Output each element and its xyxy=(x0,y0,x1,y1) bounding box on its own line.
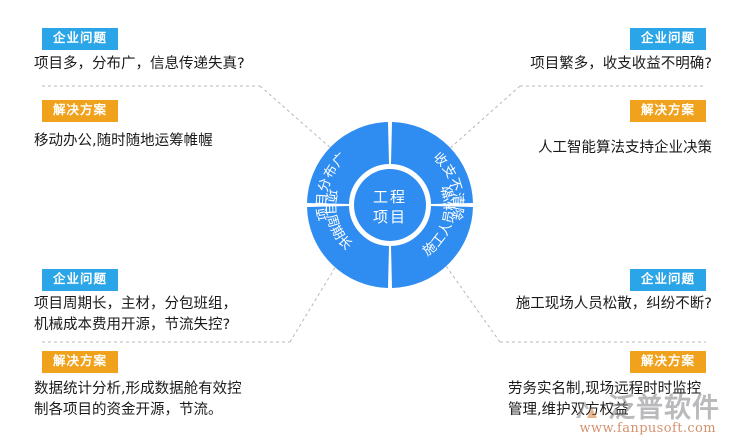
solution-badge-bottom-left: 解决方案 xyxy=(42,351,118,373)
solution-text-top-left: 移动办公,随时随地运筹帷幄 xyxy=(34,131,314,152)
wheel-hub-line2: 项目 xyxy=(373,208,407,226)
problem-badge-top-left: 企业问题 xyxy=(42,28,118,50)
problem-badge-bottom-right: 企业问题 xyxy=(630,269,706,291)
infographic-canvas: 项目分布广 收支不清除 项目周期长 施工人员松散 工程 项目 企业问题 项目多，… xyxy=(0,0,734,444)
solution-text-bottom-left: 数据统计分析,形成数据舱有效控 制各项目的资金开源，节流。 xyxy=(34,379,324,421)
wheel-hub-line1: 工程 xyxy=(373,188,407,206)
problem-text-top-left: 项目多，分布广，信息传递失真? xyxy=(34,54,314,75)
problem-badge-bottom-left: 企业问题 xyxy=(42,269,118,291)
solution-text-top-right: 人工智能算法支持企业决策 xyxy=(412,138,712,159)
solution-text-bottom-right: 劳务实名制,现场远程时时监控 管理,维护双方权益 xyxy=(508,379,734,421)
problem-text-top-right: 项目繁多，收支收益不明确? xyxy=(412,54,712,75)
solution-badge-bottom-right: 解决方案 xyxy=(630,351,706,373)
problem-text-bottom-right: 施工现场人员松散，纠纷不断? xyxy=(412,294,712,315)
solution-badge-top-right: 解决方案 xyxy=(630,100,706,122)
watermark-url: www.fanpusoft.com xyxy=(579,421,716,436)
problem-badge-top-right: 企业问题 xyxy=(630,28,706,50)
solution-badge-top-left: 解决方案 xyxy=(42,100,118,122)
problem-text-bottom-left: 项目周期长，主材，分包班组， 机械成本费用开源，节流失控? xyxy=(34,294,334,336)
